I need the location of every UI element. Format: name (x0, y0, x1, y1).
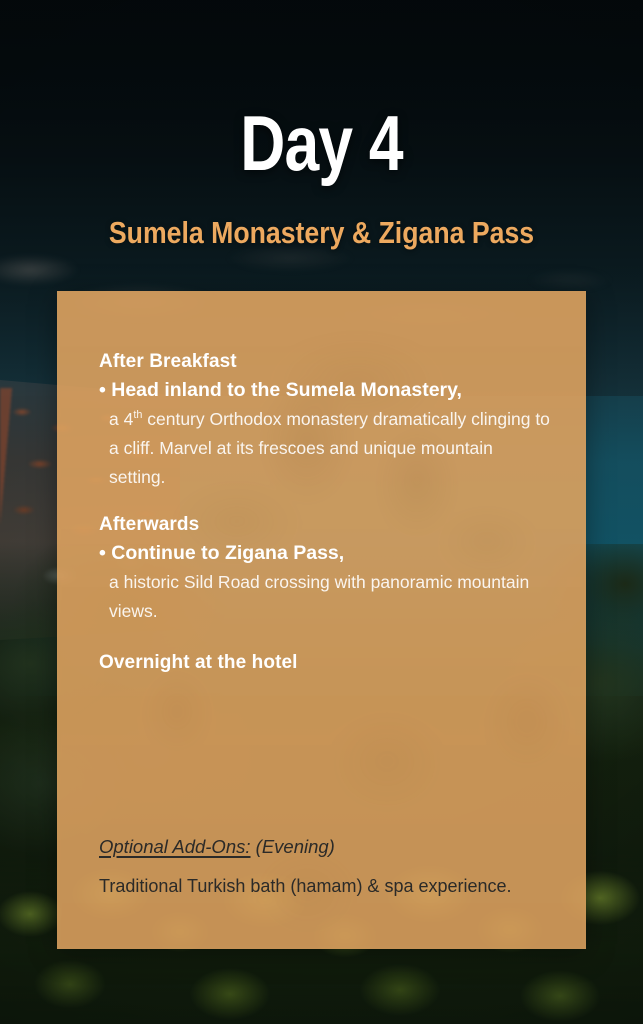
itinerary-slide: Day 4 Sumela Monastery & Zigana Pass Aft… (0, 0, 643, 1024)
addons-note: Traditional Turkish bath (hamam) & spa e… (99, 875, 556, 898)
addons-time: (Evening) (251, 836, 335, 857)
section-spacer (99, 492, 552, 514)
page-subtitle: Sumela Monastery & Zigana Pass (45, 217, 598, 248)
detail-sumela-monastery: a 4th century Orthodox monastery dramati… (109, 405, 552, 492)
bullet-zigana-pass: • Continue to Zigana Pass, (99, 541, 552, 567)
detail-text-pre: a 4 (109, 409, 133, 429)
overnight-spacer (99, 626, 552, 652)
itinerary-content: After Breakfast • Head inland to the Sum… (57, 291, 586, 674)
addons-label: Optional Add-Ons: (99, 836, 251, 857)
detail-text-post: century Orthodox monastery dramatically … (109, 409, 550, 487)
page-title: Day 4 (64, 104, 578, 182)
detail-zigana-pass: a historic Sild Road crossing with panor… (109, 568, 552, 626)
section-heading-afterwards: Afterwards (99, 514, 552, 536)
addons-title: Optional Add-Ons: (Evening) (99, 835, 556, 859)
section-heading-after-breakfast: After Breakfast (99, 351, 552, 373)
itinerary-card: After Breakfast • Head inland to the Sum… (57, 291, 586, 949)
optional-addons-block: Optional Add-Ons: (Evening) Traditional … (99, 835, 556, 898)
bullet-sumela-monastery: • Head inland to the Sumela Monastery, (99, 378, 552, 404)
section-heading-overnight: Overnight at the hotel (99, 652, 552, 674)
